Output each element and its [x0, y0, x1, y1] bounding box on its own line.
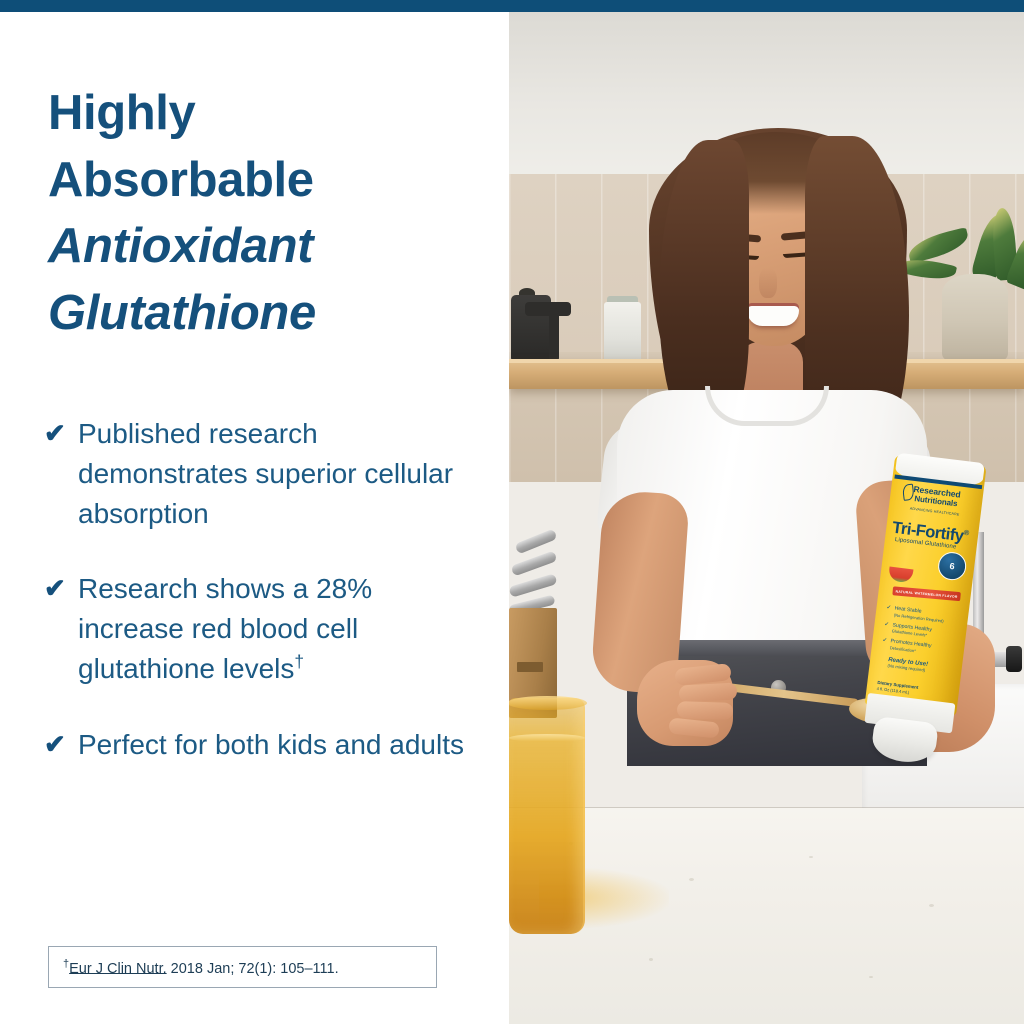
check-icon: ✔ [44, 414, 78, 452]
registered-mark: ® [963, 528, 969, 538]
nose [759, 268, 777, 298]
finger [679, 682, 738, 702]
liquid-surface [509, 734, 585, 742]
benefit-list: ✔ Published research demonstrates superi… [44, 414, 484, 764]
headline-line-4: Glutathione [48, 280, 478, 347]
tube-claim: ✓ Promotes Healthy Detoxification* [882, 637, 957, 658]
counter-speck [929, 904, 934, 907]
badge-text: 6 [949, 561, 955, 572]
footnote-marker: † [294, 651, 304, 671]
benefit-text: Perfect for both kids and adults [78, 725, 470, 765]
citation-details: 2018 Jan; 72(1): 105–111. [167, 960, 339, 976]
counter-speck [869, 976, 873, 978]
citation-journal: Eur J Clin Nutr. [69, 960, 167, 976]
counter-speck [689, 878, 694, 881]
benefit-text: Published research demonstrates superior… [78, 414, 470, 533]
benefit-text: Research shows a 28% increase red blood … [78, 569, 470, 688]
knife-handle [509, 573, 558, 598]
text-panel: Highly Absorbable Antioxidant Glutathion… [0, 12, 509, 1024]
finger [677, 701, 734, 720]
promo-canvas: Researched Nutritionals ADVANCING HEALTH… [0, 0, 1024, 1024]
citation-box: †Eur J Clin Nutr. 2018 Jan; 72(1): 105–1… [48, 946, 437, 988]
top-navy-bar [0, 0, 1024, 12]
glass-rim [509, 696, 587, 710]
benefit-text-main: Research shows a 28% increase red blood … [78, 573, 372, 684]
knife-block-label [517, 662, 543, 672]
plant-pot [942, 274, 1008, 362]
knife-handle [514, 529, 557, 555]
page-title: Highly Absorbable Antioxidant Glutathion… [48, 80, 478, 347]
check-icon: ✔ [44, 725, 78, 763]
headline-line-1: Highly [48, 80, 478, 147]
tube-claims-list: ✓ Heat Stable (No Refrigeration Required… [881, 604, 961, 662]
kettle-spout [549, 308, 559, 362]
smile-teeth [747, 306, 799, 326]
lifestyle-photo: Researched Nutritionals ADVANCING HEALTH… [509, 12, 1024, 1024]
headline-line-3: Antioxidant [48, 213, 478, 280]
counter-speck [649, 958, 653, 961]
faucet-handle [1006, 646, 1022, 672]
check-icon: ✔ [44, 569, 78, 607]
knife-handle [511, 550, 558, 576]
headline-line-2: Absorbable [48, 147, 478, 214]
list-item: ✔ Perfect for both kids and adults [44, 725, 484, 765]
list-item: ✔ Research shows a 28% increase red bloo… [44, 569, 484, 688]
counter-speck [809, 856, 813, 858]
citation-text: †Eur J Clin Nutr. 2018 Jan; 72(1): 105–1… [49, 958, 339, 977]
kettle-handle [525, 302, 571, 316]
canister [604, 302, 641, 362]
list-item: ✔ Published research demonstrates superi… [44, 414, 484, 533]
